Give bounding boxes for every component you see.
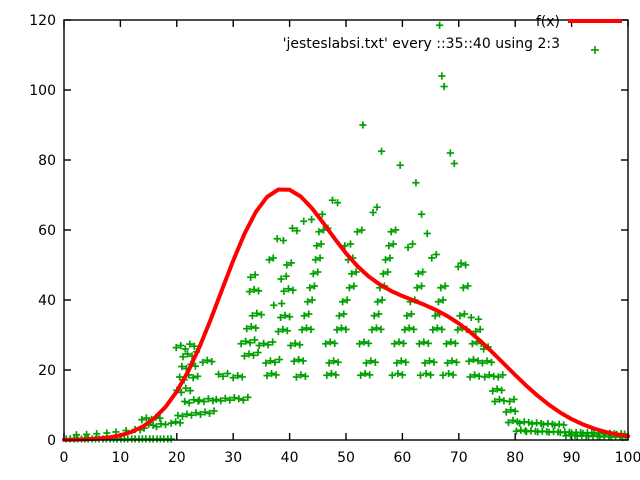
legend-label-fx: f(x) (536, 14, 560, 30)
x-tick-label: 10 (111, 450, 129, 466)
y-tick-label: 60 (38, 223, 56, 239)
x-tick-label: 100 (615, 450, 640, 466)
x-tick-label: 80 (506, 450, 524, 466)
x-tick-label: 0 (60, 450, 69, 466)
x-tick-label: 60 (393, 450, 411, 466)
x-tick-label: 20 (168, 450, 186, 466)
chart-background (0, 0, 640, 480)
y-tick-label: 0 (47, 433, 56, 449)
gnuplot-chart: 020406080100120 0102030405060708090100 f… (0, 0, 640, 480)
x-tick-label: 40 (281, 450, 299, 466)
x-tick-label: 70 (450, 450, 468, 466)
y-tick-label: 120 (29, 13, 56, 29)
x-tick-label: 50 (337, 450, 355, 466)
chart-canvas: 020406080100120 0102030405060708090100 f… (0, 0, 640, 480)
x-tick-label: 30 (224, 450, 242, 466)
x-tick-label: 90 (563, 450, 581, 466)
y-tick-label: 80 (38, 153, 56, 169)
legend-label-datafile: 'jesteslabsi.txt' every ::35::40 using 2… (283, 36, 560, 52)
y-tick-label: 20 (38, 363, 56, 379)
y-tick-label: 100 (29, 83, 56, 99)
y-tick-label: 40 (38, 293, 56, 309)
